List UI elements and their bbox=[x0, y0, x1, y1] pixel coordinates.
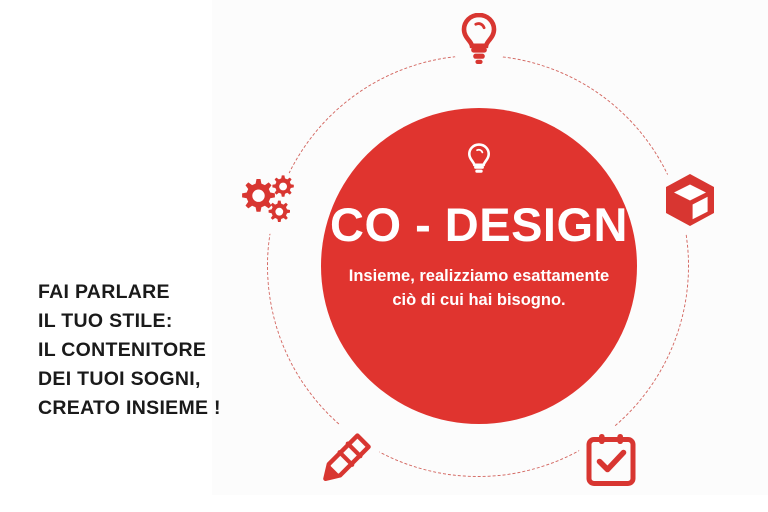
headline-line-4: DEI TUOI SOGNI, bbox=[38, 365, 268, 394]
orbit-icon-lightbulb[interactable] bbox=[455, 8, 503, 70]
orbit-icon-cube[interactable] bbox=[662, 172, 718, 228]
headline-line-2: IL TUO STILE: bbox=[38, 307, 268, 336]
core-subtitle: Insieme, realizziamo esattamente ciò di … bbox=[334, 264, 624, 312]
pencil-icon bbox=[319, 431, 373, 485]
orbit-icon-calendar-check[interactable] bbox=[584, 432, 638, 486]
calendar-check-icon bbox=[585, 432, 637, 486]
lightbulb-icon bbox=[466, 143, 492, 175]
infographic-canvas: FAI PARLARE IL TUO STILE: IL CONTENITORE… bbox=[0, 0, 768, 512]
orbit-icon-gears[interactable] bbox=[234, 172, 298, 228]
core-circle: CO - DESIGN Insieme, realizziamo esattam… bbox=[321, 108, 637, 424]
headline-block: FAI PARLARE IL TUO STILE: IL CONTENITORE… bbox=[38, 278, 268, 423]
headline-line-1: FAI PARLARE bbox=[38, 278, 268, 307]
headline-line-3: IL CONTENITORE bbox=[38, 336, 268, 365]
headline-line-5: CREATO INSIEME ! bbox=[38, 394, 268, 423]
core-title: CO - DESIGN bbox=[330, 201, 628, 248]
core-subtitle-line-1: Insieme, realizziamo esattamente bbox=[334, 264, 624, 288]
orbit-icon-pencil[interactable] bbox=[318, 430, 374, 486]
lightbulb-icon bbox=[459, 12, 499, 66]
gears-icon bbox=[235, 173, 297, 227]
cube-icon bbox=[663, 172, 717, 228]
core-subtitle-line-2: ciò di cui hai bisogno. bbox=[334, 288, 624, 312]
